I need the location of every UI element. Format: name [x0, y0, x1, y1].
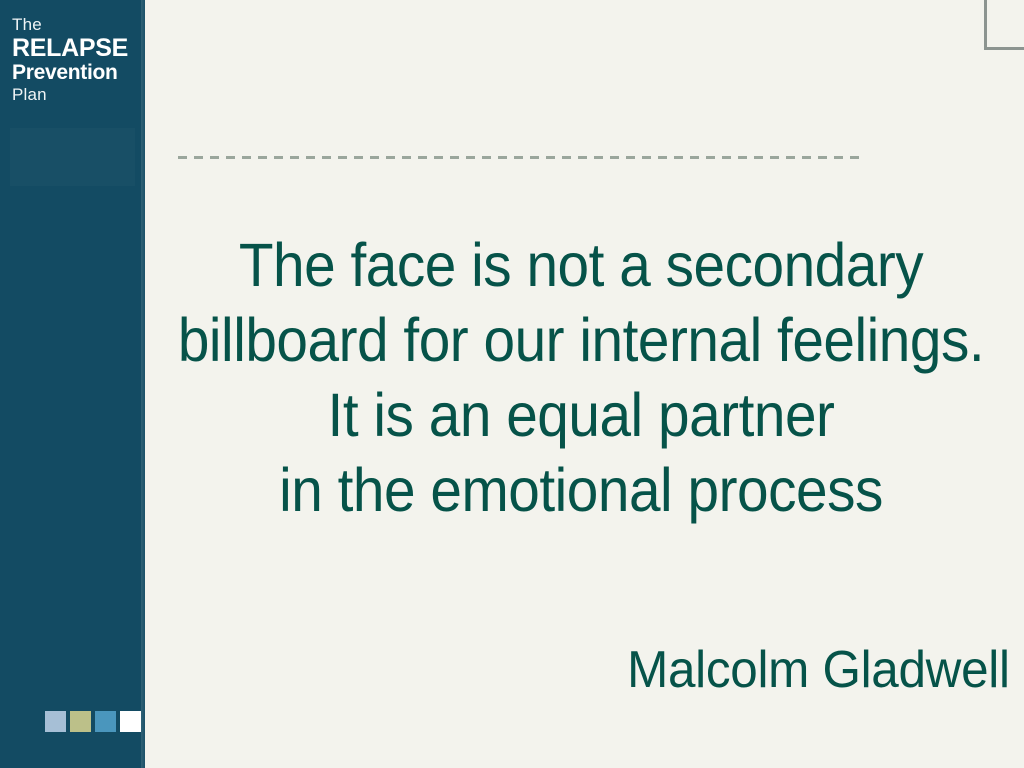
quote-line-1: The face is not a secondary — [176, 228, 987, 303]
presentation-slide: The RELAPSE Prevention Plan The face is … — [0, 0, 1024, 768]
swatch-blue — [95, 711, 116, 732]
quote-attribution: Malcolm Gladwell — [627, 640, 1010, 700]
color-swatch-row — [45, 711, 141, 732]
quote-line-2: billboard for our internal feelings. — [176, 303, 987, 378]
sidebar-sheen-overlay — [10, 128, 135, 186]
logo-line-relapse: RELAPSE — [12, 36, 142, 61]
quote-line-4: in the emotional process — [176, 453, 987, 528]
logo-line-plan: Plan — [12, 86, 142, 103]
logo-line-the: The — [12, 16, 142, 33]
swatch-white — [120, 711, 141, 732]
brand-sidebar: The RELAPSE Prevention Plan — [0, 0, 145, 768]
swatch-olive — [70, 711, 91, 732]
swatch-light-blue — [45, 711, 66, 732]
slide-content: The face is not a secondary billboard fo… — [145, 0, 1024, 768]
brand-logo: The RELAPSE Prevention Plan — [12, 16, 142, 103]
quote-line-3: It is an equal partner — [176, 378, 987, 453]
logo-line-prevention: Prevention — [12, 62, 142, 83]
quote-text: The face is not a secondary billboard fo… — [176, 228, 987, 528]
